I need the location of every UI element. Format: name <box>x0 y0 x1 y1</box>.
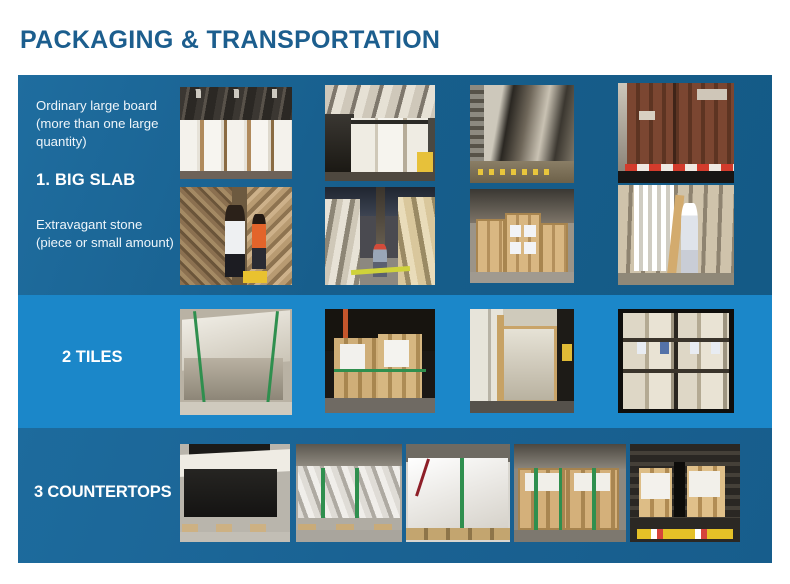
photo-slabs-being-loaded-into-container <box>325 85 435 181</box>
band-big-slab: Ordinary large board (more than one larg… <box>18 75 772 295</box>
photo-thumbnail[interactable] <box>296 444 402 542</box>
photo-thumbnail[interactable] <box>630 444 740 542</box>
photo-slabs-stacked-inside-open-container <box>470 85 574 183</box>
photo-white-wrapped-slabs-in-warehouse <box>180 87 292 179</box>
photo-thumbnail[interactable] <box>180 187 292 285</box>
photo-thumbnail[interactable] <box>618 185 734 285</box>
big-slab-label-column: Ordinary large board (more than one larg… <box>18 75 180 295</box>
photo-grey-marble-countertops-strapped <box>296 444 402 542</box>
tiles-heading: 2 TILES <box>62 348 123 367</box>
photo-thumbnail[interactable] <box>514 444 626 542</box>
photo-thumbnail[interactable] <box>325 309 435 413</box>
countertops-label-column: 3 COUNTERTOPS <box>18 428 180 563</box>
photo-thumbnail[interactable] <box>470 85 574 183</box>
photo-worker-walking-slab-storage-aisle <box>325 187 435 285</box>
band-countertops: 3 COUNTERTOPS <box>18 428 772 563</box>
photo-thumbnail[interactable] <box>325 85 435 181</box>
photo-thumbnail[interactable] <box>618 83 734 183</box>
photo-thumbnail[interactable] <box>180 87 292 179</box>
big-slab-heading: 1. BIG SLAB <box>36 171 182 190</box>
photo-thumbnail[interactable] <box>180 309 292 415</box>
band-tiles: 2 TILES <box>18 295 772 428</box>
big-slab-description-1: Ordinary large board (more than one larg… <box>36 97 176 151</box>
photo-workers-inspecting-granite-slab <box>180 187 292 285</box>
photo-thumbnail[interactable] <box>470 309 574 413</box>
photo-loaded-container-on-truck-rear-view <box>618 83 734 183</box>
photo-strapped-tile-bundle-on-pallet <box>180 309 292 415</box>
page-title: PACKAGING & TRANSPORTATION <box>20 26 440 55</box>
photo-wrapped-tile-crate-being-moved <box>470 309 574 413</box>
slide: PACKAGING & TRANSPORTATION Ordinary larg… <box>0 0 790 584</box>
packaging-panel: Ordinary large board (more than one larg… <box>18 75 772 563</box>
photo-thumbnail[interactable] <box>618 309 734 413</box>
photo-strapped-wooden-crates-of-countertops <box>514 444 626 542</box>
countertops-heading: 3 COUNTERTOPS <box>34 483 171 502</box>
photo-crated-tiles-in-dark-warehouse <box>325 309 435 413</box>
tiles-label-column: 2 TILES <box>18 295 180 428</box>
photo-white-wrapped-bundle-with-straps <box>406 444 510 542</box>
photo-black-granite-countertop-on-pallet <box>180 444 290 542</box>
photo-worker-loading-crated-slabs-in-container <box>618 185 734 285</box>
big-slab-description-2: Extravagant stone (piece or small amount… <box>36 216 176 252</box>
photo-thumbnail[interactable] <box>180 444 290 542</box>
photo-thumbnail[interactable] <box>470 189 574 283</box>
photo-container-loaded-with-countertop-crates <box>630 444 740 542</box>
photo-thumbnail[interactable] <box>406 444 510 542</box>
photo-wooden-a-frame-crates-in-yard <box>470 189 574 283</box>
photo-container-fully-loaded-with-tile-crates <box>618 309 734 413</box>
photo-thumbnail[interactable] <box>325 187 435 285</box>
